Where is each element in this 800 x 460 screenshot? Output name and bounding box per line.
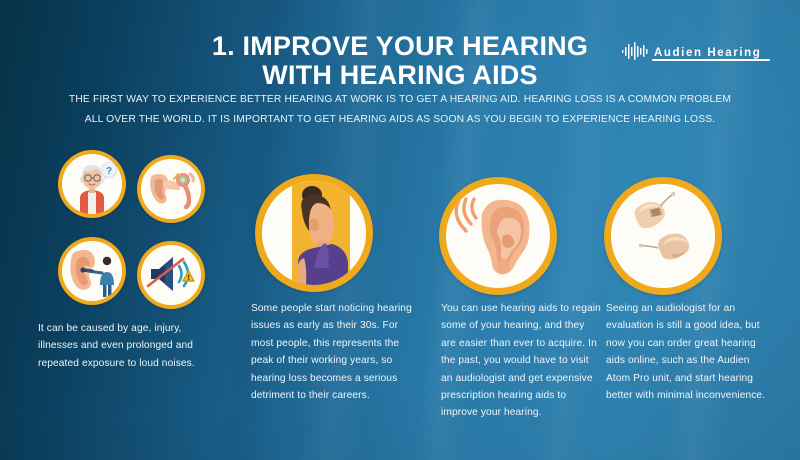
sound-waveform-icon xyxy=(622,42,648,60)
column-text-hearing-aids: You can use hearing aids to regain some … xyxy=(441,300,601,422)
ear-anatomy-icon xyxy=(141,159,201,219)
page-subtitle: THE FIRST WAY TO EXPERIENCE BETTER HEARI… xyxy=(62,90,738,130)
icon-circle-ear-anatomy xyxy=(137,155,205,223)
ear-soundwaves-icon xyxy=(446,184,550,288)
elderly-woman-confused-icon: ? xyxy=(62,154,122,214)
muted-speaker-warning-icon xyxy=(141,245,201,305)
brand-logo[interactable]: Audien Hearing xyxy=(622,38,772,60)
subtitle-line-2: ALL OVER THE WORLD. IT IS IMPORTANT TO G… xyxy=(62,110,738,130)
subtitle-line-1: THE FIRST WAY TO EXPERIENCE BETTER HEARI… xyxy=(62,90,738,110)
column-text-onset-age: Some people start noticing hearing issue… xyxy=(251,300,416,404)
hearing-aid-devices-icon xyxy=(611,184,715,288)
column-text-audiologist: Seeing an audiologist for an evaluation … xyxy=(606,300,771,404)
icon-circle-woman-profile xyxy=(255,174,373,292)
title-line-1: 1. IMPROVE YOUR HEARING xyxy=(212,31,588,61)
icon-circle-muted-speaker-warning xyxy=(137,241,205,309)
icon-circle-ear-soundwaves xyxy=(439,177,557,295)
icon-circle-ear-examination xyxy=(58,237,126,305)
infographic-canvas: 1. IMPROVE YOUR HEARING WITH HEARING AID… xyxy=(0,0,800,460)
woman-profile-icon xyxy=(262,181,366,285)
logo-underline xyxy=(652,59,770,61)
icon-circle-hearing-aid-devices xyxy=(604,177,722,295)
column-text-causes: It can be caused by age, injury, illness… xyxy=(38,320,220,372)
title-line-2: WITH HEARING AIDS xyxy=(0,61,800,90)
svg-text:?: ? xyxy=(106,166,112,177)
ear-examination-icon xyxy=(62,241,122,301)
icon-circle-elderly-woman-confused: ? xyxy=(58,150,126,218)
